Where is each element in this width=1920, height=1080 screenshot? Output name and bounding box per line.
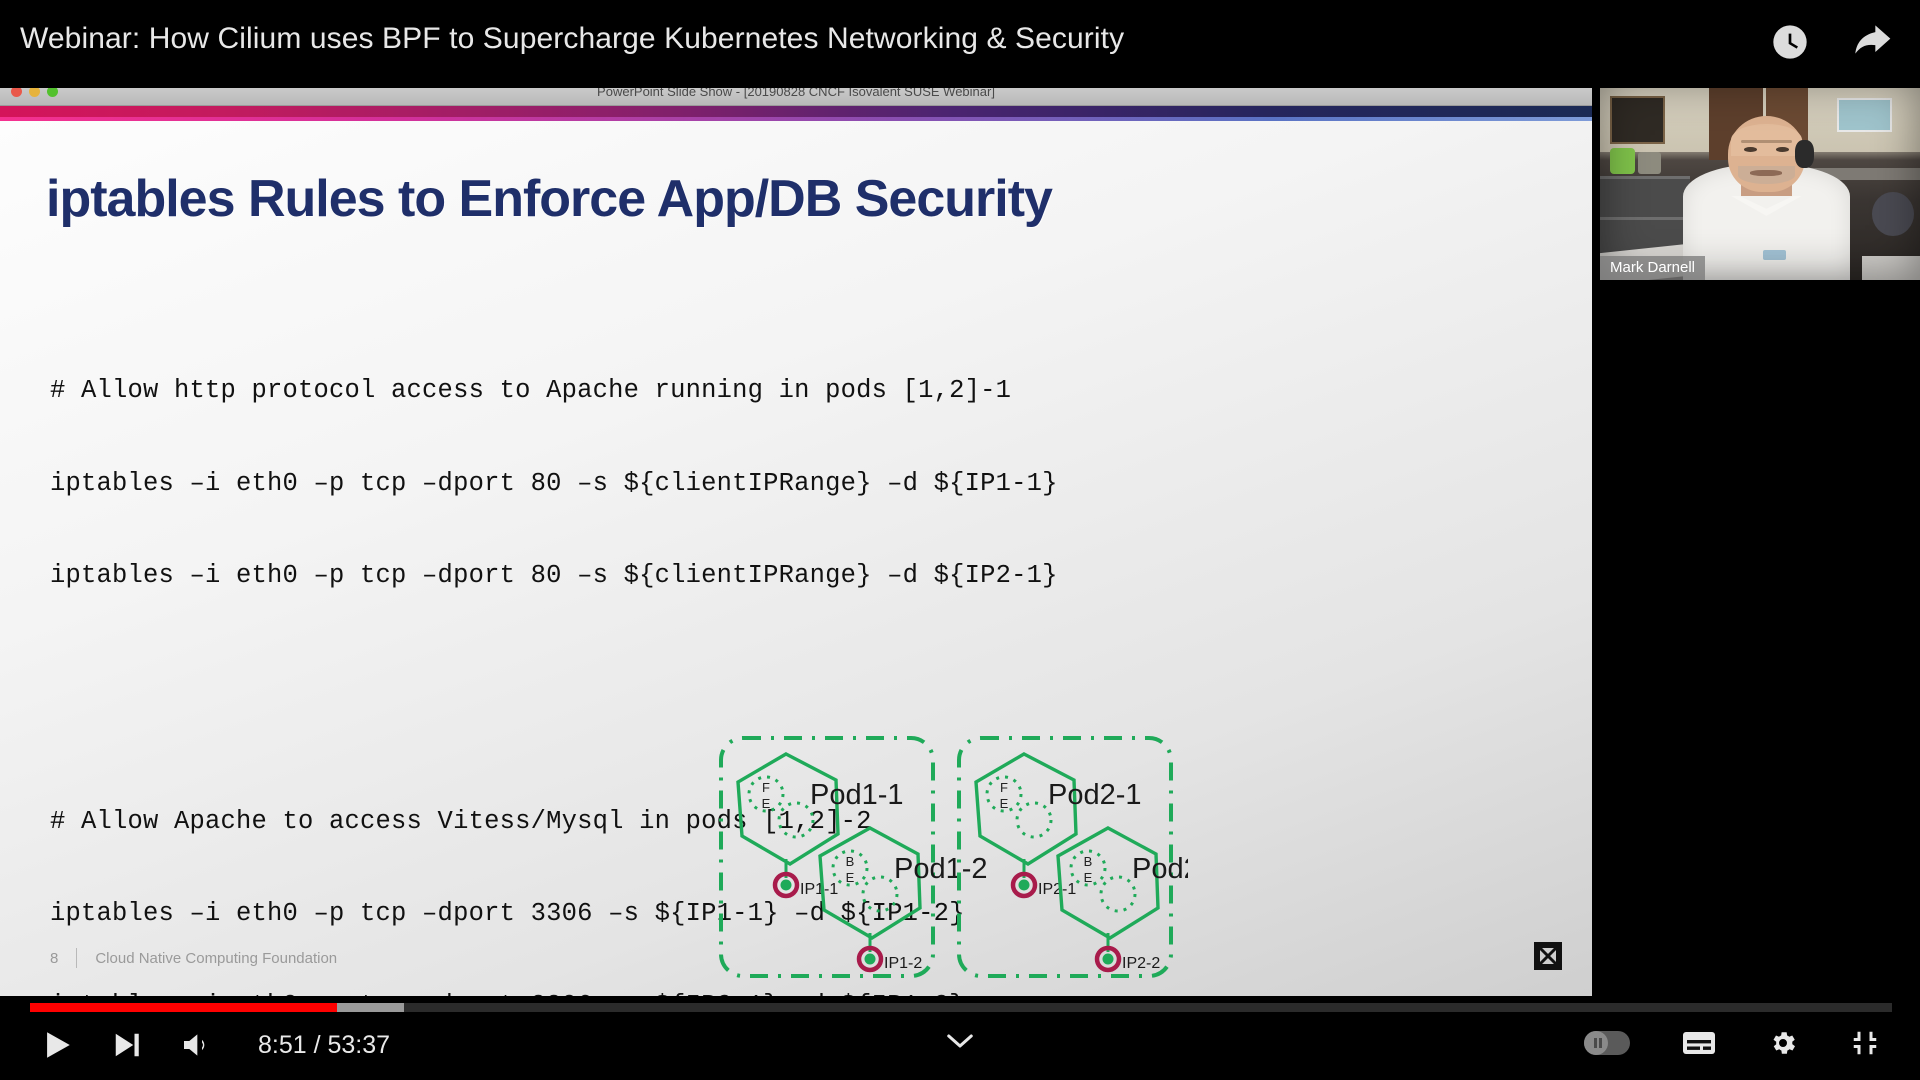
node-group-1: F E Pod1-1 IP1-1 B E [721,738,988,976]
badge-bottom-1-1: E [762,796,771,811]
webcam-vignette [1600,80,1920,280]
shared-screen-stage: PowerPoint Slide Show - [20190828 CNCF I… [0,80,1592,998]
presentation-slide: iptables Rules to Enforce App/DB Securit… [0,121,1592,996]
slide-title: iptables Rules to Enforce App/DB Securit… [46,169,1052,229]
autoplay-toggle-knob [1584,1031,1608,1055]
slideshow-toggle-icon[interactable] [1534,942,1562,970]
ip-dot [1103,954,1114,965]
exit-fullscreen-button[interactable] [1850,1028,1880,1058]
container-circle [863,877,897,911]
top-bar-actions [1768,20,1894,64]
slide-page-number: 8 [50,950,58,967]
watch-later-clock-icon[interactable] [1768,20,1812,64]
ip-label-1-1: IP1-1 [800,881,838,898]
pod-label-2-1: Pod2-1 [1048,779,1142,811]
badge-top-1-2: B [846,854,855,869]
ip-dot [1019,880,1030,891]
volume-button[interactable] [180,1029,212,1061]
time-display: 8:51 / 53:37 [258,1031,390,1060]
container-circle [1101,877,1135,911]
controls-center-group [945,1032,975,1050]
ip-label-2-1: IP2-1 [1038,881,1076,898]
settings-button[interactable] [1768,1028,1798,1058]
controls-right-group [1584,1028,1880,1058]
node-group-2: F E Pod2-1 IP2-1 B E Pod2- [959,738,1188,976]
progress-played [30,1003,337,1012]
code-line: iptables –i eth0 –p tcp –dport 3306 –s $… [50,991,1350,996]
controls-left-group: 8:51 / 53:37 [40,1028,390,1062]
slide-accent-bar [0,106,1592,117]
share-icon[interactable] [1850,20,1894,64]
code-block-1: # Allow http protocol access to Apache r… [50,315,1350,654]
slide-footer: 8 Cloud Native Computing Foundation [50,948,337,968]
container-circle [779,803,813,837]
webcam-video-frame [1600,80,1920,280]
badge-bottom-1-2: E [846,870,855,885]
next-video-button[interactable] [112,1030,142,1060]
ip-label-1-2: IP1-2 [884,955,922,972]
slide-footer-org: Cloud Native Computing Foundation [95,950,337,967]
play-button[interactable] [40,1028,74,1062]
code-line: # Allow http protocol access to Apache r… [50,376,1350,407]
pod-label-1-2: Pod1-2 [894,853,988,885]
container-circle [1017,803,1051,837]
chevron-down-button[interactable] [945,1032,975,1050]
footer-divider [76,948,77,968]
ip-label-2-2: IP2-2 [1122,955,1160,972]
powerpoint-window: PowerPoint Slide Show - [20190828 CNCF I… [0,80,1592,995]
code-line: iptables –i eth0 –p tcp –dport 80 –s ${c… [50,469,1350,500]
badge-top-2-2: B [1084,854,1093,869]
pod-label-2-2: Pod2-2 [1132,853,1188,885]
badge-top-1-1: F [762,780,770,795]
video-title: Webinar: How Cilium uses BPF to Supercha… [20,22,1124,56]
ip-dot [865,954,876,965]
progress-bar[interactable] [30,1003,1892,1012]
subtitles-button[interactable] [1682,1030,1716,1056]
player-controls: 8:51 / 53:37 [0,998,1920,1080]
code-line: iptables –i eth0 –p tcp –dport 80 –s ${c… [50,561,1350,592]
participant-name-label: Mark Darnell [1600,256,1705,280]
pod-label-1-1: Pod1-1 [810,779,904,811]
player-top-bar: Webinar: How Cilium uses BPF to Supercha… [0,0,1920,88]
badge-bottom-2-1: E [1000,796,1009,811]
video-player: Webinar: How Cilium uses BPF to Supercha… [0,0,1920,1080]
badge-top-2-1: F [1000,780,1008,795]
presenter-webcam[interactable]: Mark Darnell [1600,80,1920,280]
badge-bottom-2-2: E [1084,870,1093,885]
pod-diagram: F E Pod1-1 IP1-1 B E [718,732,1188,982]
autoplay-toggle[interactable] [1584,1031,1630,1055]
ip-dot [781,880,792,891]
